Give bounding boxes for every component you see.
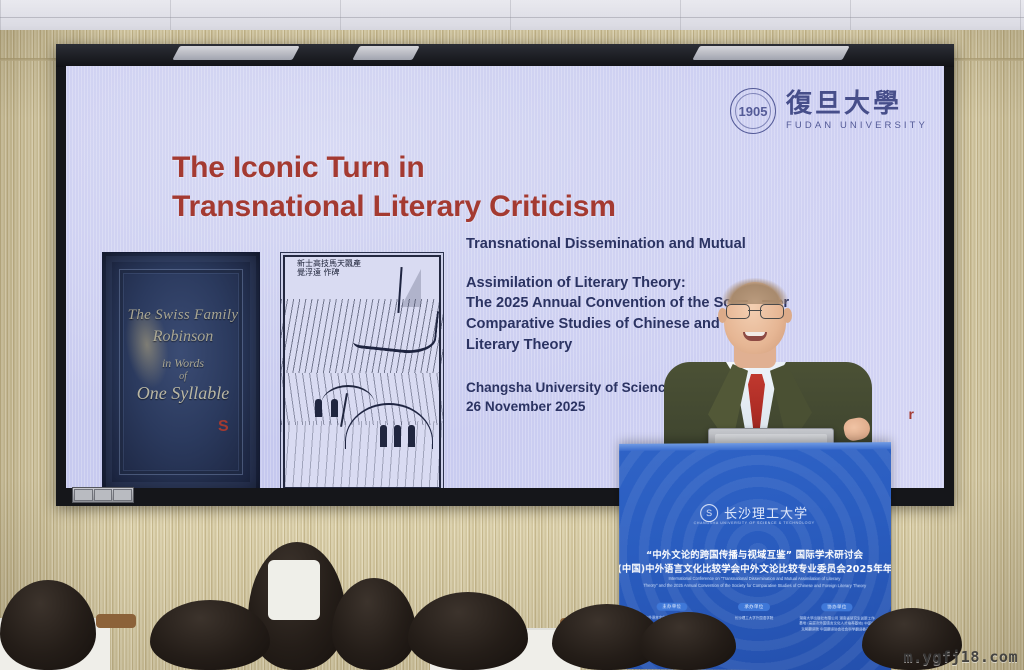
woodcut-figure — [331, 399, 338, 417]
watermark: m.ygfj18.com — [904, 648, 1018, 666]
book-line6: One Syllable — [125, 383, 241, 404]
slide-title-line1: The Iconic Turn in — [172, 148, 792, 187]
fudan-name-cn: 復旦大學 — [786, 91, 928, 117]
control-button[interactable] — [113, 489, 132, 501]
organizer-block: 协办单位 湖南大学出版社有限公司 湖南省研究生创新工作基地 (高层次外国语言文化… — [799, 595, 876, 632]
control-button[interactable] — [74, 489, 93, 501]
woodcut-ship — [353, 303, 439, 356]
banner-title-en: International Conference on "Transnation… — [630, 576, 880, 589]
woodcut-sail — [401, 269, 421, 307]
banner-title-cn-line2: 暨(中国)中外语言文化比较学会中外文论比较专业委员会2025年年会 — [619, 561, 891, 575]
speaker-ear-right — [783, 308, 792, 323]
woodcut-figure — [408, 425, 415, 447]
organizer-detail: 长沙理工大学外国语学院 — [716, 616, 792, 622]
woodcut-figure — [380, 425, 387, 447]
body-line-1: Transnational Dissemination and Mutual — [466, 234, 906, 255]
speaker-glasses — [726, 304, 784, 318]
woodcut-caption: 新士高技馬天飄產覺浮遠 作碑 — [297, 259, 361, 277]
screen-bezel — [56, 44, 954, 67]
woodcut-figure — [394, 425, 401, 447]
organizer-label: 主办单位 — [656, 603, 687, 611]
book-line2: Swiss Family — [155, 307, 238, 323]
control-button[interactable] — [94, 489, 113, 501]
book-cover-image: The Swiss Family Robinson in Words of On… — [102, 252, 260, 488]
woodcut-figure — [315, 399, 322, 417]
podium-university-logo: S 长沙理工大学 — [700, 503, 808, 522]
book-line1: The — [128, 307, 151, 323]
slide-s-mark: S — [218, 418, 229, 436]
slide-title-line2: Transnational Literary Criticism — [172, 187, 792, 226]
chair-arm — [96, 614, 136, 628]
slide-title: The Iconic Turn in Transnational Literar… — [172, 148, 792, 226]
book-line3: Robinson — [125, 328, 241, 346]
fudan-university-logo: 1905 復旦大學 FUDAN UNIVERSITY — [730, 88, 928, 134]
slide-presenter-name: r — [909, 406, 914, 422]
organizer-detail: 湖南大学出版社有限公司 湖南省研究生创新工作基地 (高层次外国语言文化人才培养基… — [799, 616, 876, 632]
woodcut-image: 新士高技馬天飄產覺浮遠 作碑 — [280, 252, 444, 488]
fudan-seal-icon: 1905 — [730, 88, 776, 134]
fudan-seal-year: 1905 — [739, 104, 768, 119]
audience-shoulder — [268, 560, 320, 620]
conference-photo: 1905 復旦大學 FUDAN UNIVERSITY The Iconic Tu… — [0, 0, 1024, 670]
podium-logo-en: CHANGSHA UNIVERSITY OF SCIENCE & TECHNOL… — [694, 521, 815, 525]
banner-en-line2: Theory" and the 2025 Annual Convention o… — [630, 582, 880, 589]
banner-title-cn-line1: “中外文论的跨国传播与视域互鉴” 国际学术研讨会 — [646, 547, 863, 561]
fudan-name-en: FUDAN UNIVERSITY — [786, 120, 928, 131]
organizer-label: 承办单位 — [738, 603, 769, 611]
podium-top-edge — [619, 442, 891, 451]
book-line5: of — [125, 371, 241, 382]
book-cover-text: The Swiss Family Robinson in Words of On… — [125, 307, 241, 404]
podium-logo-cn: 长沙理工大学 — [724, 503, 808, 522]
screen-control-plate[interactable] — [72, 487, 134, 503]
organizer-label: 协办单位 — [821, 603, 852, 611]
book-line4: in Words — [125, 356, 241, 371]
csust-logo-icon: S — [700, 504, 718, 522]
